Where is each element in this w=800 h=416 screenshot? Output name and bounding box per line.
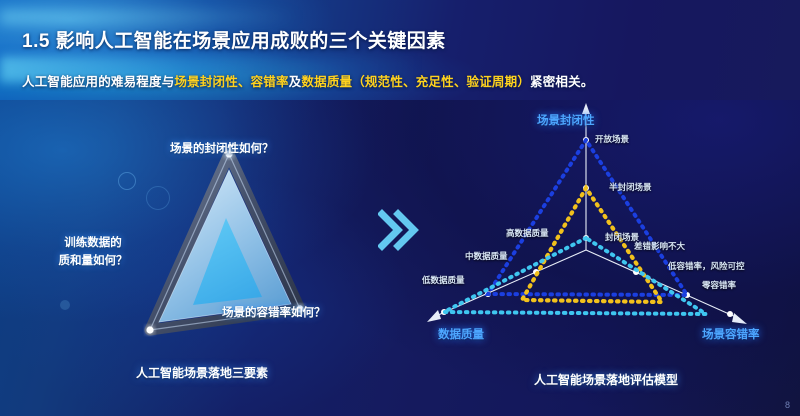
axis-arrow-bottom-right (732, 313, 747, 324)
subtitle-part-4: 紧密相关。 (530, 75, 594, 89)
radar-tick-zero-tolerance: 零容错率 (702, 279, 736, 291)
triangle-label-right: 场景的容错率如何？ (222, 304, 326, 322)
right-diagram-caption: 人工智能场景落地评估模型 (534, 371, 678, 388)
subtitle-part-3: 数据质量（规范性、充足性、验证周期） (301, 75, 530, 89)
right-diagram: 场景封闭性 数据质量 场景容错率 开放场景 半封闭场景 封闭场景 高数据质量 中… (412, 100, 800, 360)
triangle-label-left: 训练数据的 质和量如何？ (32, 234, 154, 270)
page-subtitle: 人工智能应用的难易程度与场景封闭性、容错率及数据质量（规范性、充足性、验证周期）… (22, 71, 594, 90)
radar-tick-low-data-quality: 低数据质量 (422, 274, 465, 286)
radar-tick-error-low-impact: 差错影响不大 (634, 240, 685, 252)
page-title: 1.5 影响人工智能在场景应用成败的三个关键因素 (22, 26, 446, 53)
slide-canvas: 1.5 影响人工智能在场景应用成败的三个关键因素 人工智能应用的难易程度与场景封… (0, 0, 800, 416)
subtitle-part-2: 及 (289, 75, 302, 89)
page-number: 8 (785, 400, 790, 410)
radar-axis-title-bottom-left: 数据质量 (438, 326, 484, 342)
radar-tick-high-data-quality: 高数据质量 (506, 227, 549, 239)
left-diagram-caption: 人工智能场景落地三要素 (136, 364, 268, 381)
left-diagram: 场景的封闭性如何？ 训练数据的 质和量如何？ 场景的容错率如何？ (10, 108, 380, 398)
radar-tick-semi-closed-scene: 半封闭场景 (609, 181, 652, 193)
radar-tick-open-scene: 开放场景 (595, 133, 629, 145)
subtitle-part-0: 人工智能应用的难易程度与 (22, 75, 174, 89)
radar-axis-title-bottom-right: 场景容错率 (702, 326, 760, 342)
triangle-label-top: 场景的封闭性如何？ (170, 140, 274, 158)
triangle-label-left-line1: 训练数据的 (32, 234, 154, 252)
tick-dot-right-1 (727, 311, 733, 317)
radar-axes (436, 112, 738, 318)
radar-axis-title-top: 场景封闭性 (537, 112, 595, 128)
subtitle-part-1: 场景封闭性、容错率 (174, 75, 288, 89)
triangle-label-left-line2: 质和量如何？ (32, 252, 154, 270)
radar-tick-low-tolerance-controllable: 低容错率，风险可控 (668, 260, 745, 272)
radar-tick-mid-data-quality: 中数据质量 (465, 250, 508, 262)
vertex-dot-left (146, 326, 153, 333)
header-glow-top (0, 10, 300, 24)
axis-arrow-bottom-left (427, 310, 441, 322)
